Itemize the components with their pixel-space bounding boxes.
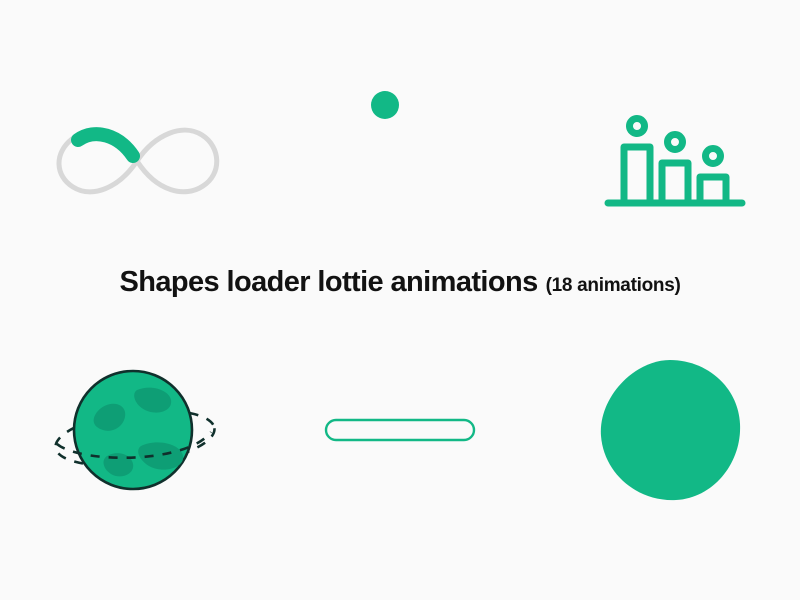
dot-shape [371, 91, 399, 119]
bar-2-shape [662, 163, 688, 203]
infinity-loader-graphic [37, 106, 237, 216]
page-title: Shapes loader lottie animations [120, 266, 538, 299]
planet-orbit-graphic [45, 360, 225, 500]
blob-shape [601, 360, 740, 500]
showcase-title-row: Shapes loader lottie animations (18 anim… [0, 266, 800, 314]
bar-3-shape [700, 177, 726, 203]
bar-chart-graphic [602, 111, 748, 215]
pill-progress-graphic [320, 414, 480, 446]
planet-body [74, 371, 192, 489]
bar-3-ring-icon [706, 148, 721, 163]
bar-1-ring-icon [630, 118, 645, 133]
animation-count-label: (18 animations) [546, 275, 681, 297]
pill-track [326, 420, 474, 440]
infinity-progress-arc [78, 134, 133, 156]
bouncing-dot-graphic [355, 75, 415, 135]
morphing-blob-graphic [590, 350, 750, 510]
preview-bouncing-dot-loader[interactable] [300, 60, 470, 150]
preview-morphing-blob-loader[interactable] [580, 345, 760, 515]
bar-2-ring-icon [668, 134, 683, 149]
preview-pill-progress-loader[interactable] [300, 400, 500, 460]
preview-infinity-loader[interactable] [22, 96, 252, 226]
animation-showcase-canvas: Shapes loader lottie animations (18 anim… [0, 0, 800, 600]
bar-1-shape [624, 147, 650, 203]
preview-bar-chart-loader[interactable] [585, 100, 765, 225]
preview-planet-orbit-loader[interactable] [30, 350, 240, 510]
